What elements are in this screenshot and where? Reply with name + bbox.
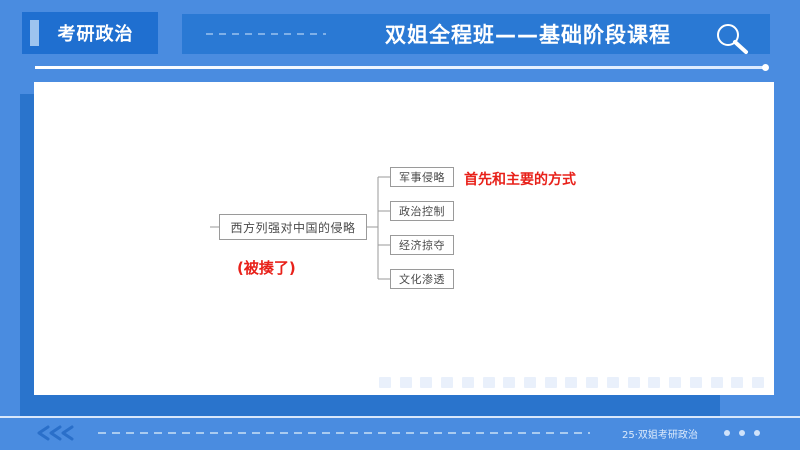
decorative-square <box>690 377 702 388</box>
decorative-square <box>483 377 495 388</box>
badge-accent-bar <box>30 20 39 46</box>
decorative-square <box>400 377 412 388</box>
decorative-square <box>607 377 619 388</box>
decorative-square <box>524 377 536 388</box>
footer-label: 25·双姐考研政治 <box>622 426 698 441</box>
mindmap-branch-label: 军事侵略 <box>399 169 445 185</box>
title-bar: 双姐全程班——基础阶段课程 <box>182 14 770 54</box>
slide-title: 双姐全程班——基础阶段课程 <box>326 19 730 49</box>
page-dot[interactable] <box>739 430 745 436</box>
mindmap-branch-node: 政治控制 <box>390 201 454 221</box>
decorative-square <box>752 377 764 388</box>
mindmap-branch-label: 文化渗透 <box>399 271 445 287</box>
search-icon[interactable] <box>712 21 752 55</box>
decorative-square <box>379 377 391 388</box>
decorative-square <box>503 377 515 388</box>
decorative-square <box>462 377 474 388</box>
decorative-square <box>711 377 723 388</box>
mindmap-branch-label: 政治控制 <box>399 203 445 219</box>
double-chevron-left-icon[interactable] <box>36 425 80 441</box>
annotation-primary: 首先和主要的方式 <box>464 169 576 189</box>
footer-divider <box>0 416 800 418</box>
mindmap-branch-node: 经济掠夺 <box>390 235 454 255</box>
header-divider <box>35 66 765 69</box>
mindmap-diagram: 西方列强对中国的侵略 军事侵略 政治控制 经济掠夺 文化渗透 首先和主要的方式 … <box>34 82 774 395</box>
page-dot[interactable] <box>754 430 760 436</box>
dashed-decoration <box>206 33 326 35</box>
decorative-square <box>420 377 432 388</box>
annotation-secondary: (被揍了) <box>237 257 296 278</box>
content-panel: 西方列强对中国的侵略 军事侵略 政治控制 经济掠夺 文化渗透 首先和主要的方式 … <box>34 82 774 395</box>
page-dot[interactable] <box>724 430 730 436</box>
course-badge-label: 考研政治 <box>39 20 158 46</box>
slide-root: 考研政治 双姐全程班——基础阶段课程 <box>0 0 800 450</box>
decorative-square <box>648 377 660 388</box>
mindmap-root-node: 西方列强对中国的侵略 <box>219 214 367 240</box>
decorative-square <box>586 377 598 388</box>
mindmap-branch-node: 军事侵略 <box>390 167 454 187</box>
decorative-square-strip <box>379 376 764 389</box>
footer-dashed-decoration <box>98 432 590 434</box>
slide-header: 考研政治 双姐全程班——基础阶段课程 <box>0 0 800 70</box>
mindmap-branch-label: 经济掠夺 <box>399 237 445 253</box>
decorative-square <box>731 377 743 388</box>
decorative-square <box>669 377 681 388</box>
decorative-square <box>545 377 557 388</box>
decorative-square <box>441 377 453 388</box>
course-badge: 考研政治 <box>22 12 158 54</box>
header-divider-dot <box>762 64 769 71</box>
mindmap-branch-node: 文化渗透 <box>390 269 454 289</box>
mindmap-root-label: 西方列强对中国的侵略 <box>230 219 355 236</box>
slide-footer: 25·双姐考研政治 <box>0 416 800 450</box>
decorative-square <box>628 377 640 388</box>
footer-page-dots[interactable] <box>724 430 760 436</box>
decorative-square <box>565 377 577 388</box>
